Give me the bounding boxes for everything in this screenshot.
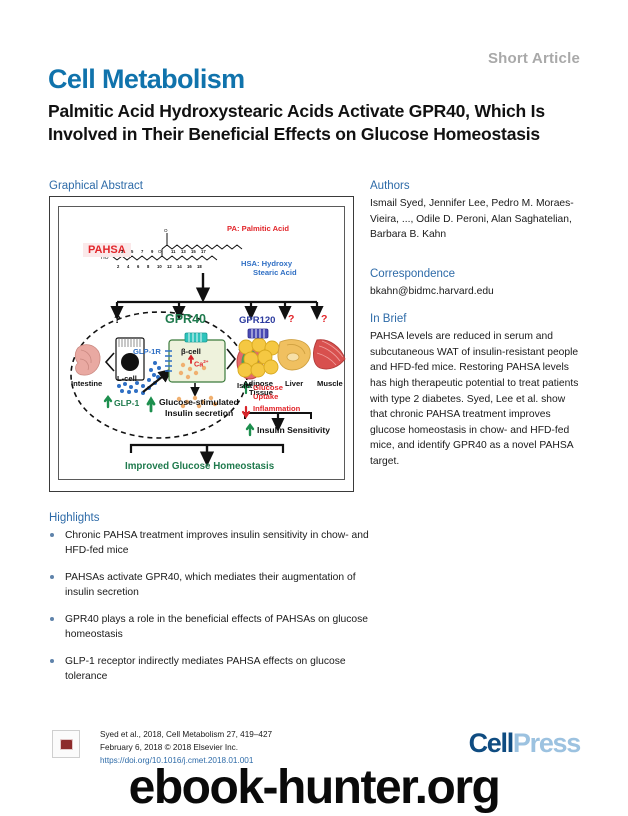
bullet-icon (50, 617, 54, 621)
figure-muscle-label: Muscle (317, 379, 343, 388)
watermark-overlay: ebook-hunter.org (0, 760, 628, 815)
svg-text:O: O (158, 249, 162, 254)
highlights-label: Highlights (49, 512, 100, 524)
figure-inflammation-label: Inflammation (253, 404, 300, 413)
figure-canvas: HO O O O (59, 207, 344, 479)
figure-glp1-up-label: GLP-1 (114, 398, 139, 408)
bullet-icon (50, 659, 54, 663)
figure-hsa-label-2: Stearic Acid (253, 268, 297, 277)
figure-gsis-label-1: Glucose-stimulated (159, 397, 239, 407)
seal-mark (60, 739, 73, 750)
cellpress-logo: CellPress (469, 728, 580, 759)
bullet-icon (50, 533, 54, 537)
figure-calcium-label: Ca2+ (194, 359, 208, 368)
journal-masthead: Cell Metabolism (48, 64, 245, 95)
correspondence-email[interactable]: bkahn@bidmc.harvard.edu (370, 284, 585, 300)
authors-label: Authors (370, 180, 410, 192)
figure-gpr40-label: GPR40 (165, 312, 206, 326)
figure-gsis-label-2: Insulin secretion (165, 408, 233, 418)
bullet-icon (50, 575, 54, 579)
highlight-text: PAHSAs activate GPR40, which mediates th… (65, 572, 356, 598)
figure-liver-label: Liver (285, 379, 303, 388)
figure-glucose-uptake-1: Glucose (253, 383, 283, 392)
page-root: Short Article Cell Metabolism Palmitic A… (0, 0, 628, 816)
svg-text:O: O (164, 228, 168, 233)
article-type-label: Short Article (488, 50, 580, 67)
in-brief-label: In Brief (370, 313, 406, 325)
highlight-text: GLP-1 receptor indirectly mediates PAHSA… (65, 656, 346, 682)
figure-inner-frame: HO O O O (58, 206, 345, 480)
page-title: Palmitic Acid Hydroxystearic Acids Activ… (48, 100, 588, 147)
list-item: GLP-1 receptor indirectly mediates PAHSA… (49, 654, 369, 685)
citation-line-2: February 6, 2018 © 2018 Elsevier Inc. (100, 742, 272, 755)
list-item: Chronic PAHSA treatment improves insulin… (49, 528, 369, 559)
list-item: GPR40 plays a role in the beneficial eff… (49, 612, 369, 643)
figure-intestine-label: Intestine (71, 379, 102, 388)
figure-insulin-sensitivity-label: Insulin Sensitivity (257, 425, 330, 435)
list-item: PAHSAs activate GPR40, which mediates th… (49, 570, 369, 601)
figure-pa-label: PA: Palmitic Acid (227, 224, 289, 233)
in-brief-text: PAHSA levels are reduced in serum and su… (370, 329, 580, 470)
graphical-abstract-figure: HO O O O (49, 196, 354, 492)
figure-betacell-label: β-cell (181, 347, 201, 356)
figure-question-liver: ? (288, 313, 294, 325)
cellpress-cell: Cell (469, 728, 513, 758)
figure-pahsa-label: PAHSA (83, 243, 131, 257)
authors-list: Ismail Syed, Jennifer Lee, Pedro M. Mora… (370, 196, 585, 243)
citation-line-1: Syed et al., 2018, Cell Metabolism 27, 4… (100, 729, 272, 742)
highlight-text: GPR40 plays a role in the beneficial eff… (65, 614, 368, 640)
figure-question-left: ? (114, 314, 121, 326)
figure-glp1r-label: GLP-1R (133, 347, 161, 356)
figure-gpr120-label: GPR120 (239, 315, 275, 326)
figure-question-muscle: ? (321, 313, 327, 325)
highlights-list: Chronic PAHSA treatment improves insulin… (49, 528, 369, 696)
publisher-seal-icon (52, 730, 80, 758)
figure-hsa-label-1: HSA: Hydroxy (241, 259, 292, 268)
cellpress-press: Press (513, 728, 580, 758)
figure-glucose-uptake-2: Uptake (253, 392, 278, 401)
figure-lcell-label: L-cell (117, 374, 137, 383)
figure-improved-label: Improved Glucose Homeostasis (125, 461, 274, 472)
correspondence-label: Correspondence (370, 268, 455, 280)
graphical-abstract-label: Graphical Abstract (49, 180, 143, 192)
highlight-text: Chronic PAHSA treatment improves insulin… (65, 530, 369, 556)
